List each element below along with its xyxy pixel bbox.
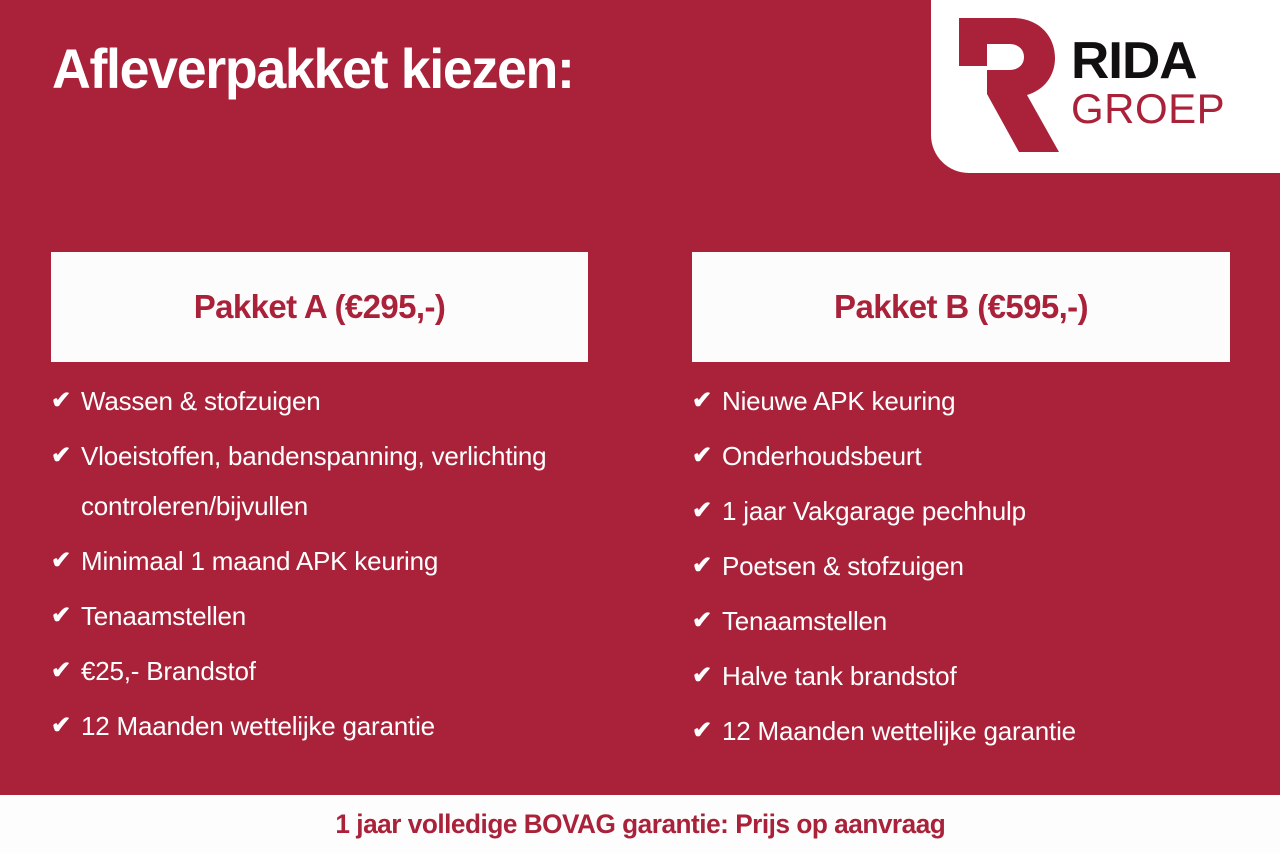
feature-label: 12 Maanden wettelijke garantie bbox=[81, 701, 435, 751]
feature-label: Minimaal 1 maand APK keuring bbox=[81, 536, 438, 586]
logo-name-groep: GROEP bbox=[1071, 88, 1225, 130]
list-item: ✔ Onderhoudsbeurt bbox=[692, 431, 1230, 481]
check-icon: ✔ bbox=[51, 376, 81, 426]
check-icon: ✔ bbox=[51, 701, 81, 751]
check-icon: ✔ bbox=[51, 536, 81, 586]
check-icon: ✔ bbox=[692, 486, 722, 536]
feature-label: Vloeistoffen, bandenspanning, verlichtin… bbox=[81, 431, 581, 531]
check-icon: ✔ bbox=[692, 376, 722, 426]
package-title-pakket-b: Pakket B (€595,-) bbox=[834, 288, 1088, 326]
check-icon: ✔ bbox=[692, 541, 722, 591]
logo-wordmark: RIDA GROEP bbox=[1071, 37, 1225, 131]
logo-name-rida: RIDA bbox=[1071, 37, 1228, 87]
check-icon: ✔ bbox=[692, 706, 722, 756]
list-item: ✔ Vloeistoffen, bandenspanning, verlicht… bbox=[51, 431, 588, 531]
check-icon: ✔ bbox=[692, 431, 722, 481]
footer-bar: 1 jaar volledige BOVAG garantie: Prijs o… bbox=[0, 795, 1280, 853]
list-item: ✔ Wassen & stofzuigen bbox=[51, 376, 588, 426]
check-icon: ✔ bbox=[51, 646, 81, 696]
feature-label: Halve tank brandstof bbox=[722, 651, 956, 701]
list-item: ✔ Nieuwe APK keuring bbox=[692, 376, 1230, 426]
logo-panel: RIDA GROEP bbox=[931, 0, 1280, 173]
check-icon: ✔ bbox=[51, 431, 81, 481]
page-title: Afleverpakket kiezen: bbox=[52, 40, 574, 99]
list-item: ✔ Poetsen & stofzuigen bbox=[692, 541, 1230, 591]
list-item: ✔ Tenaamstellen bbox=[692, 596, 1230, 646]
list-item: ✔ 12 Maanden wettelijke garantie bbox=[51, 701, 588, 751]
footer-note: 1 jaar volledige BOVAG garantie: Prijs o… bbox=[335, 809, 945, 840]
package-card-pakket-b[interactable]: Pakket B (€595,-) ✔ Nieuwe APK keuring ✔… bbox=[692, 252, 1230, 761]
feature-label: Onderhoudsbeurt bbox=[722, 431, 921, 481]
feature-label: €25,- Brandstof bbox=[81, 646, 256, 696]
feature-list-pakket-a: ✔ Wassen & stofzuigen ✔ Vloeistoffen, ba… bbox=[51, 376, 588, 751]
feature-label: Nieuwe APK keuring bbox=[722, 376, 955, 426]
check-icon: ✔ bbox=[692, 651, 722, 701]
feature-label: Wassen & stofzuigen bbox=[81, 376, 320, 426]
check-icon: ✔ bbox=[51, 591, 81, 641]
check-icon: ✔ bbox=[692, 596, 722, 646]
rida-r-monogram-icon bbox=[947, 10, 1065, 160]
list-item: ✔ Minimaal 1 maand APK keuring bbox=[51, 536, 588, 586]
feature-label: Tenaamstellen bbox=[81, 591, 246, 641]
list-item: ✔ Tenaamstellen bbox=[51, 591, 588, 641]
package-title-pakket-a: Pakket A (€295,-) bbox=[194, 288, 445, 326]
feature-label: 1 jaar Vakgarage pechhulp bbox=[722, 486, 1026, 536]
feature-list-pakket-b: ✔ Nieuwe APK keuring ✔ Onderhoudsbeurt ✔… bbox=[692, 376, 1230, 756]
list-item: ✔ 1 jaar Vakgarage pechhulp bbox=[692, 486, 1230, 536]
package-header-pakket-b: Pakket B (€595,-) bbox=[692, 252, 1230, 362]
poster-canvas: Afleverpakket kiezen: RIDA GROEP Pakket … bbox=[0, 0, 1280, 853]
feature-label: 12 Maanden wettelijke garantie bbox=[722, 706, 1076, 756]
package-header-pakket-a: Pakket A (€295,-) bbox=[51, 252, 588, 362]
list-item: ✔ 12 Maanden wettelijke garantie bbox=[692, 706, 1230, 756]
feature-label: Tenaamstellen bbox=[722, 596, 887, 646]
package-card-pakket-a[interactable]: Pakket A (€295,-) ✔ Wassen & stofzuigen … bbox=[51, 252, 588, 756]
list-item: ✔ Halve tank brandstof bbox=[692, 651, 1230, 701]
feature-label: Poetsen & stofzuigen bbox=[722, 541, 964, 591]
list-item: ✔ €25,- Brandstof bbox=[51, 646, 588, 696]
